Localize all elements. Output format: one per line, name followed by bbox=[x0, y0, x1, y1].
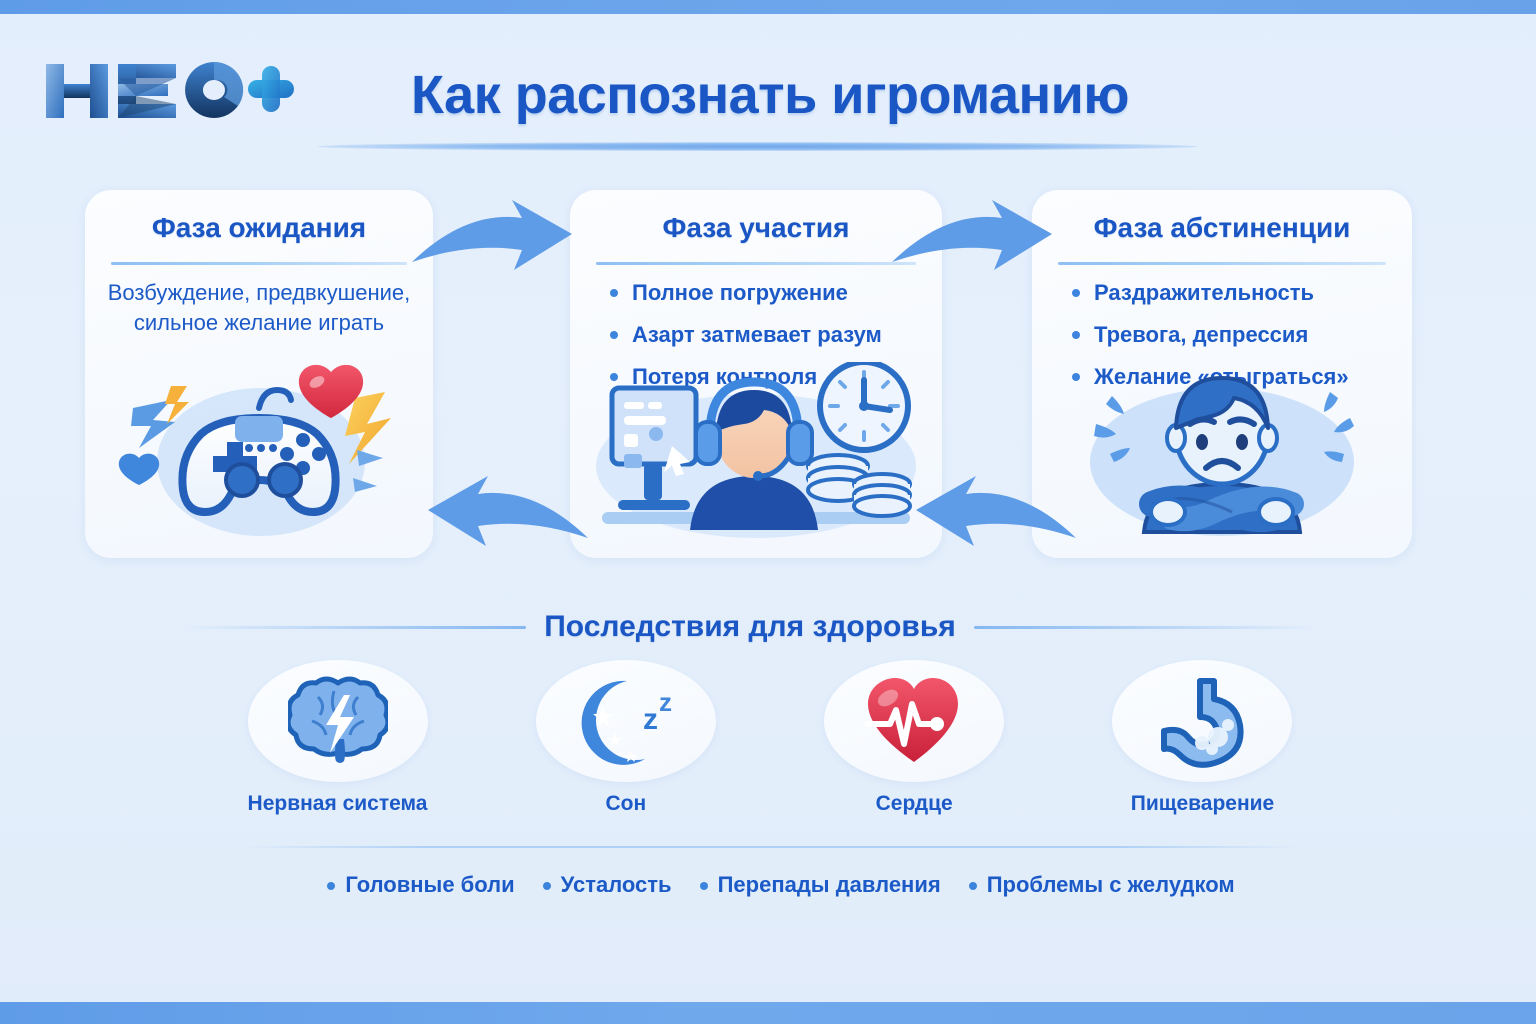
phase-card-title: Фаза абстиненции bbox=[1032, 212, 1412, 244]
sad-person-illustration bbox=[1032, 362, 1412, 552]
bottom-accent-bar bbox=[0, 1002, 1536, 1024]
health-section-header: Последствия для здоровья bbox=[180, 602, 1320, 652]
neo-plus-logo[interactable] bbox=[38, 48, 298, 130]
heart-pulse-icon bbox=[824, 660, 1004, 782]
header: Как распознать игроманию bbox=[0, 14, 1536, 134]
infographic-canvas: Как распознать игроманию Фаза ожидания В… bbox=[0, 0, 1536, 1024]
card-divider bbox=[596, 262, 916, 265]
arrow-phase2-to-phase3 bbox=[888, 196, 1058, 276]
health-item-sleep[interactable]: z z Сон bbox=[518, 660, 733, 840]
brain-lightning-icon bbox=[248, 660, 428, 782]
health-item-digestion[interactable]: Пищеварение bbox=[1095, 660, 1310, 840]
stomach-icon bbox=[1112, 660, 1292, 782]
top-accent-bar bbox=[0, 0, 1536, 14]
arrow-phase3-to-phase2 bbox=[900, 472, 1080, 552]
page-title: Как распознать игроманию bbox=[330, 58, 1210, 132]
health-item-nervous-system[interactable]: Нервная система bbox=[230, 660, 445, 840]
health-item-heart[interactable]: Сердце bbox=[807, 660, 1022, 840]
svg-text:z: z bbox=[659, 687, 672, 717]
title-underline-swoosh bbox=[318, 142, 1198, 151]
card-divider bbox=[1058, 262, 1386, 265]
list-item: Полное погружение bbox=[606, 278, 924, 320]
health-item-label: Сердце bbox=[876, 792, 953, 816]
arrow-phase1-to-phase2 bbox=[408, 196, 578, 276]
list-item: Раздражительность bbox=[1068, 278, 1394, 320]
list-item: Проблемы с желудком bbox=[967, 872, 1235, 898]
health-item-label: Сон bbox=[605, 792, 646, 816]
phase-card-title: Фаза участия bbox=[570, 212, 942, 244]
phase-card-title: Фаза ожидания bbox=[85, 212, 433, 244]
moon-zzz-icon: z z bbox=[536, 660, 716, 782]
health-icons-row: Нервная система z z Сон bbox=[230, 660, 1310, 840]
phase-description: Возбуждение, предвкушение, сильное желан… bbox=[103, 278, 415, 338]
list-item: Головные боли bbox=[325, 872, 514, 898]
health-item-label: Пищеварение bbox=[1131, 792, 1275, 816]
footer-divider bbox=[238, 846, 1304, 848]
phase-card-abstinence[interactable]: Фаза абстиненции Раздражительность Трево… bbox=[1032, 190, 1412, 558]
section-rule-right bbox=[974, 626, 1320, 629]
phase-cards: Фаза ожидания Возбуждение, предвкушение,… bbox=[0, 190, 1536, 565]
phase-card-anticipation[interactable]: Фаза ожидания Возбуждение, предвкушение,… bbox=[85, 190, 433, 558]
section-title: Последствия для здоровья bbox=[544, 610, 956, 644]
svg-text:z: z bbox=[643, 703, 658, 736]
arrow-phase2-to-phase1 bbox=[412, 472, 592, 552]
gamer-headset-monitor-clock-coins-illustration bbox=[570, 362, 942, 552]
section-rule-left bbox=[180, 626, 526, 629]
list-item: Перепады давления bbox=[698, 872, 941, 898]
list-item: Усталость bbox=[541, 872, 672, 898]
list-item: Тревога, депрессия bbox=[1068, 320, 1394, 362]
phase-card-body: Возбуждение, предвкушение, сильное желан… bbox=[103, 278, 415, 338]
gamepad-hearts-illustration bbox=[85, 362, 433, 552]
symptoms-list: Головные боли Усталость Перепады давлени… bbox=[300, 862, 1260, 908]
card-divider bbox=[111, 262, 407, 265]
health-item-label: Нервная система bbox=[248, 792, 428, 816]
phase-card-participation[interactable]: Фаза участия Полное погружение Азарт зат… bbox=[570, 190, 942, 558]
list-item: Азарт затмевает разум bbox=[606, 320, 924, 362]
